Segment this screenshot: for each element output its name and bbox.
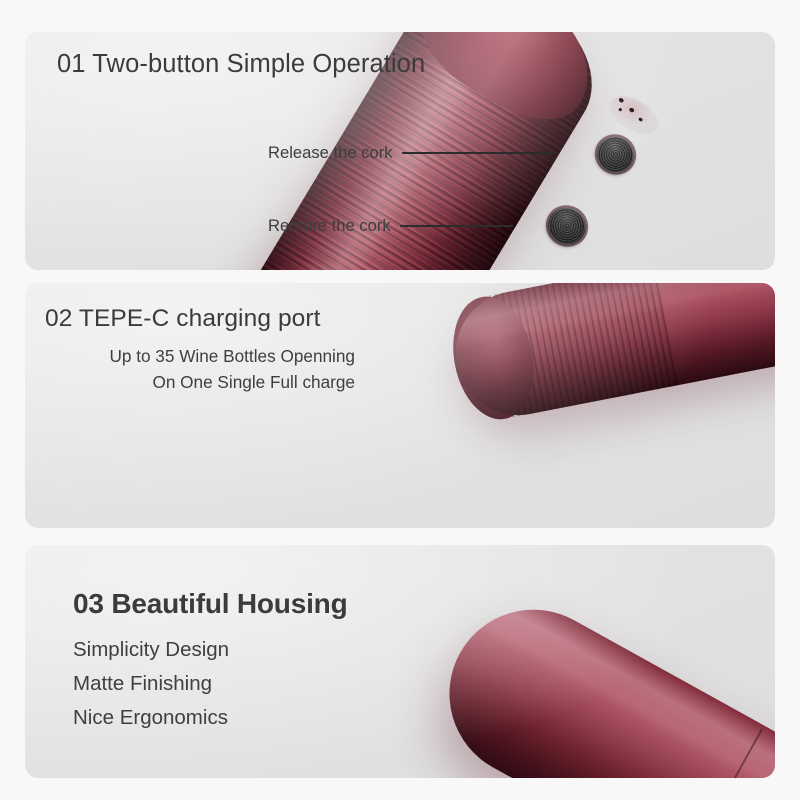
leader-line: [400, 225, 513, 227]
vent-hole: [618, 108, 622, 112]
vent-hole: [638, 117, 643, 122]
panel-one-title: 01 Two-button Simple Operation: [57, 50, 425, 79]
product-body-horizontal-cylinder: [445, 283, 775, 426]
callout-release-cork: Release the cork: [268, 143, 555, 163]
product-body-matte-cylinder: [419, 580, 775, 778]
cylinder-shading: [445, 283, 775, 426]
vent-holes-group: [603, 88, 665, 142]
infographic-page: 01 Two-button Simple Operation Release t…: [0, 0, 800, 800]
feature-item: Nice Ergonomics: [73, 701, 229, 735]
feature-item: Matte Finishing: [73, 667, 229, 701]
remove-cork-button[interactable]: [541, 201, 592, 251]
callout-remove-cork-label: Remore the cork: [268, 216, 391, 236]
release-cork-button[interactable]: [591, 130, 641, 179]
cylinder-shading: [419, 580, 775, 778]
leader-line: [402, 152, 555, 154]
feature-panel-two: 02 TEPE-C charging port Up to 35 Wine Bo…: [25, 283, 775, 528]
callout-remove-cork: Remore the cork: [268, 216, 513, 236]
panel-three-feature-list: Simplicity Design Matte Finishing Nice E…: [73, 633, 229, 735]
vent-hole: [618, 97, 624, 103]
panel-two-sublines: Up to 35 Wine Bottles Openning On One Si…: [45, 343, 355, 395]
feature-panel-one: 01 Two-button Simple Operation Release t…: [25, 32, 775, 270]
feature-panel-three: <35mm 03 Beautiful Housing Simplicity De…: [25, 545, 775, 778]
feature-item: Simplicity Design: [73, 633, 229, 667]
panel-two-subline-two: On One Single Full charge: [45, 369, 355, 395]
callout-release-cork-label: Release the cork: [268, 143, 393, 163]
panel-two-subline-one: Up to 35 Wine Bottles Openning: [45, 343, 355, 369]
panel-three-title: 03 Beautiful Housing: [73, 588, 347, 620]
panel-two-title: 02 TEPE-C charging port: [45, 305, 321, 333]
vent-hole: [629, 107, 635, 113]
